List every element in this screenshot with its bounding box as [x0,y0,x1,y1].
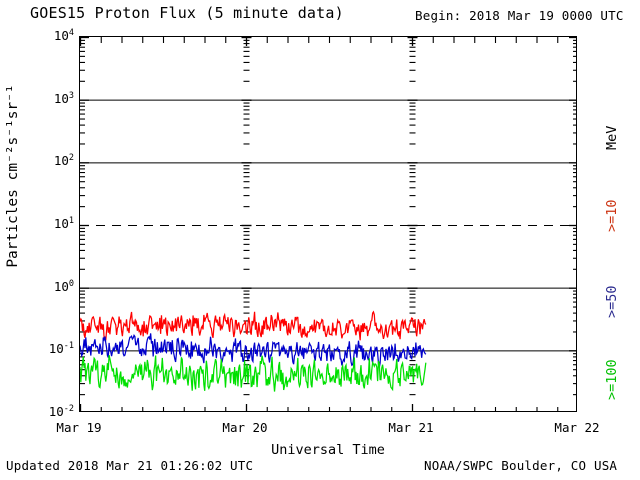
y-tick-label-1e1: 101 [42,216,74,231]
y-tick-mantissa: 10 [49,404,64,419]
y-tick-exponent: 2 [69,153,74,163]
x-tick-label-mar-21: Mar 21 [385,420,437,435]
y-tick-label-1e2: 102 [42,153,74,168]
y-tick-mantissa: 10 [49,341,64,356]
proton-flux-plot-page: GOES15 Proton Flux (5 minute data) Begin… [0,0,640,480]
y-tick-label-1e3: 103 [42,91,74,106]
y-tick-label-1e4: 104 [42,28,74,43]
legend-label-units: MeV [604,126,620,150]
x-tick-label-mar-22: Mar 22 [551,420,603,435]
x-axis-title: Universal Time [79,442,577,458]
legend-label-series-3: >=100 [604,359,620,400]
y-tick-mantissa: 10 [54,28,69,43]
legend-label-series-1: >=10 [604,199,620,232]
y-axis-title: Particles cm⁻²s⁻¹sr⁻¹ [5,11,21,341]
credit-label: NOAA/SWPC Boulder, CO USA [424,460,617,473]
y-tick-label-1e-1: 10-1 [42,341,74,356]
y-tick-exponent: 4 [69,28,74,38]
legend-label-series-2: >=50 [604,285,620,318]
x-tick-label-mar-19: Mar 19 [53,420,105,435]
y-tick-exponent: -2 [64,404,74,414]
y-tick-label-1e0: 100 [42,279,74,294]
y-tick-exponent: 3 [69,91,74,101]
begin-time-label: Begin: 2018 Mar 19 0000 UTC [415,10,624,23]
y-tick-exponent: -1 [64,341,74,351]
y-tick-exponent: 1 [69,216,74,226]
y-tick-label-1e-2: 10-2 [42,404,74,419]
y-tick-exponent: 0 [69,279,74,289]
flux-chart-svg [80,37,576,411]
y-tick-mantissa: 10 [54,153,69,168]
y-tick-mantissa: 10 [54,91,69,106]
plot-canvas [80,37,576,411]
updated-timestamp: Updated 2018 Mar 21 01:26:02 UTC [6,460,253,473]
page-title: GOES15 Proton Flux (5 minute data) [30,6,344,21]
plot-area [79,36,577,412]
x-tick-label-mar-20: Mar 20 [219,420,271,435]
y-tick-mantissa: 10 [54,279,69,294]
y-tick-mantissa: 10 [54,216,69,231]
